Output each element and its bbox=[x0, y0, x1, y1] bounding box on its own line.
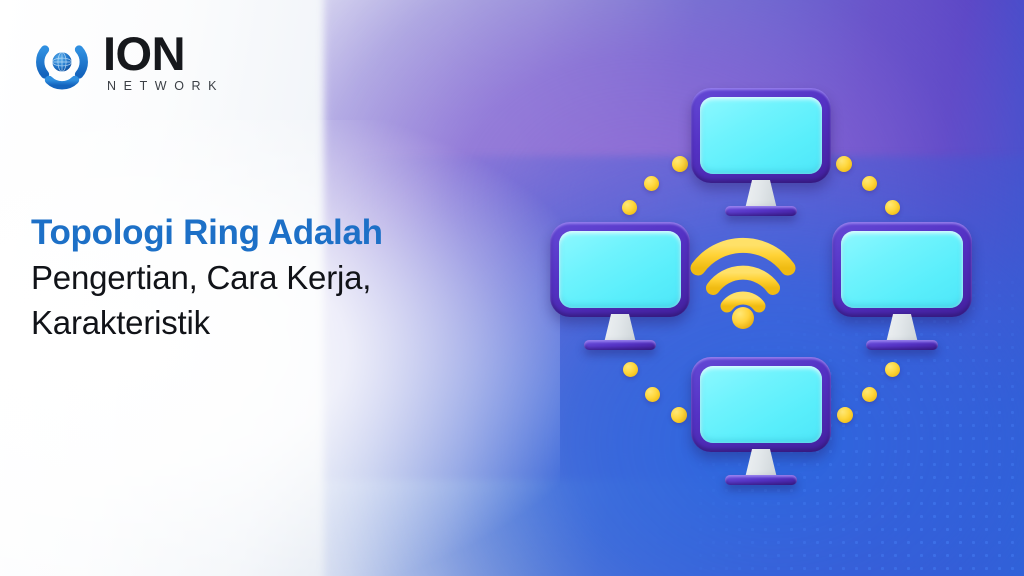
monitor-screen bbox=[841, 231, 963, 308]
monitor-base bbox=[866, 340, 938, 350]
link-dot bbox=[862, 176, 877, 191]
monitor-screen bbox=[559, 231, 681, 308]
title-subline-2: Karakteristik bbox=[31, 302, 501, 344]
monitor-stand bbox=[886, 314, 918, 343]
monitor-screen bbox=[700, 366, 822, 443]
link-dot bbox=[885, 362, 900, 377]
brand-wordmark: ION NETWORK bbox=[103, 30, 224, 93]
monitor-base bbox=[584, 340, 656, 350]
monitor-top bbox=[691, 88, 831, 213]
title-subline-1: Pengertian, Cara Kerja, bbox=[31, 257, 501, 299]
background-white-glow bbox=[0, 120, 560, 576]
link-dot bbox=[644, 176, 659, 191]
page-title: Topologi Ring Adalah Pengertian, Cara Ke… bbox=[31, 213, 501, 344]
wifi-icon bbox=[688, 230, 798, 330]
title-accent-line: Topologi Ring Adalah bbox=[31, 213, 501, 254]
link-dot bbox=[837, 407, 853, 423]
monitor-bezel bbox=[832, 222, 972, 317]
banner: ION NETWORK Topologi Ring Adalah Pengert… bbox=[0, 0, 1024, 576]
monitor-bottom bbox=[691, 357, 831, 482]
link-dot bbox=[836, 156, 852, 172]
link-dot bbox=[622, 200, 637, 215]
link-dot bbox=[862, 387, 877, 402]
brand-logo: ION NETWORK bbox=[31, 30, 224, 93]
monitor-left bbox=[550, 222, 690, 347]
link-dot bbox=[885, 200, 900, 215]
ring-topology-illustration bbox=[540, 72, 980, 512]
monitor-stand bbox=[745, 449, 777, 478]
monitor-bezel bbox=[550, 222, 690, 317]
monitor-right bbox=[832, 222, 972, 347]
monitor-base bbox=[725, 206, 797, 216]
link-dot bbox=[671, 407, 687, 423]
link-dot bbox=[645, 387, 660, 402]
monitor-stand bbox=[604, 314, 636, 343]
globe-network-icon bbox=[31, 31, 93, 93]
link-dot bbox=[623, 362, 638, 377]
monitor-stand bbox=[745, 180, 777, 209]
monitor-bezel bbox=[691, 357, 831, 452]
brand-name: ION bbox=[103, 32, 224, 75]
brand-tagline: NETWORK bbox=[103, 79, 224, 93]
link-dot bbox=[672, 156, 688, 172]
monitor-bezel bbox=[691, 88, 831, 183]
monitor-base bbox=[725, 475, 797, 485]
monitor-screen bbox=[700, 97, 822, 174]
